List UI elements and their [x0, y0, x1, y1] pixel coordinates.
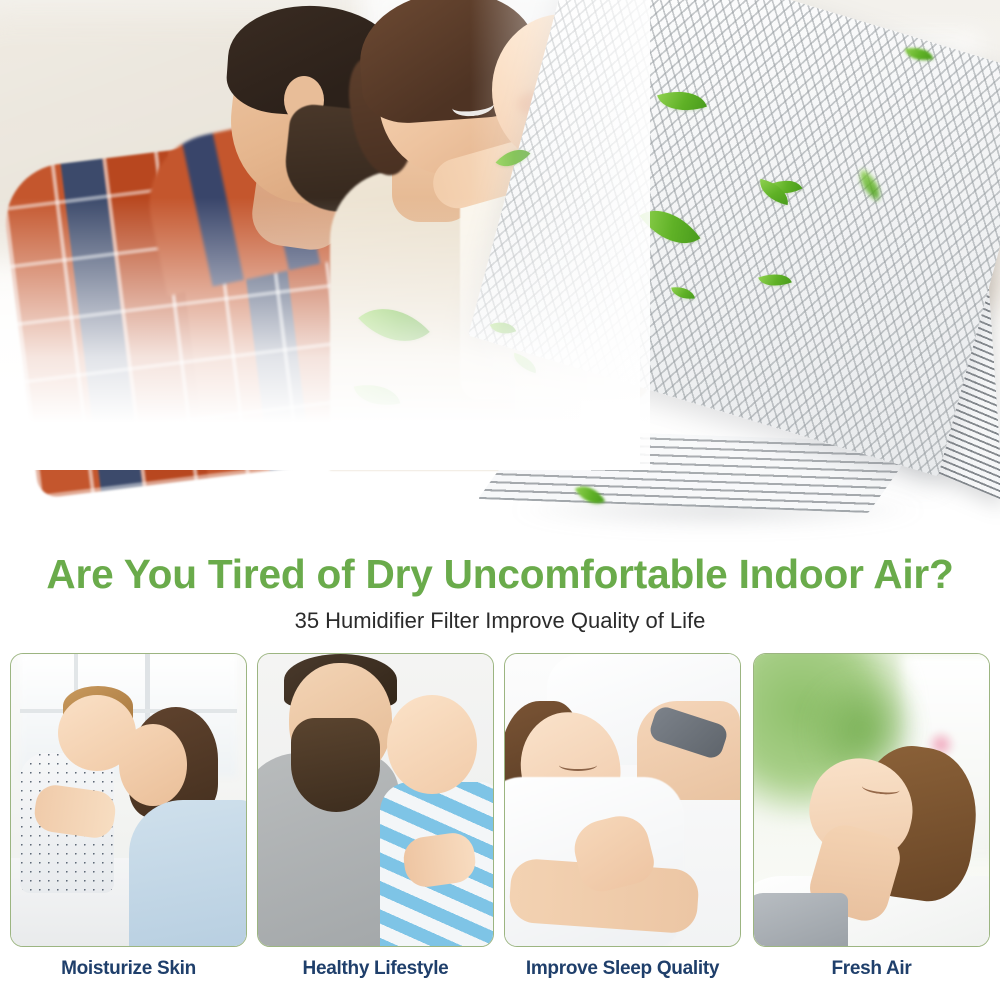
hero-image [0, 0, 1000, 545]
subheadline: 35 Humidifier Filter Improve Quality of … [0, 608, 1000, 634]
filter-honeycomb-surface [468, 0, 1000, 477]
humidifier-filter-product [438, 46, 998, 524]
card-caption: Healthy Lifestyle [257, 958, 494, 980]
card-photo-moisturize-skin [10, 653, 247, 947]
card-caption: Improve Sleep Quality [504, 958, 741, 980]
product-banner: Are You Tired of Dry Uncomfortable Indoo… [0, 0, 1000, 991]
card-photo-healthy-lifestyle [257, 653, 494, 947]
headline: Are You Tired of Dry Uncomfortable Indoo… [5, 551, 995, 598]
card-photo-improve-sleep-quality [504, 653, 741, 947]
card-caption: Moisturize Skin [10, 958, 247, 980]
card-photo-fresh-air [753, 653, 990, 947]
benefit-card-strip: Moisturize Skin Healthy Lifestyle [10, 653, 990, 991]
benefit-card-fresh-air[interactable]: Fresh Air [753, 653, 990, 980]
benefit-card-moisturize-skin[interactable]: Moisturize Skin [10, 653, 247, 980]
card-caption: Fresh Air [753, 958, 990, 980]
benefit-card-improve-sleep-quality[interactable]: Improve Sleep Quality [504, 653, 741, 980]
benefit-card-healthy-lifestyle[interactable]: Healthy Lifestyle [257, 653, 494, 980]
